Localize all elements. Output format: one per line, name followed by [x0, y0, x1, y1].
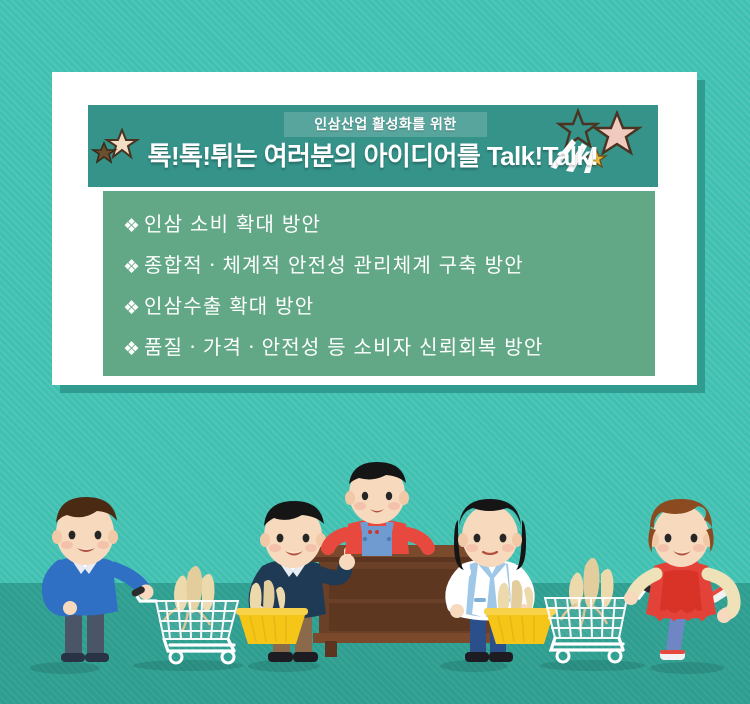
- header-banner: 인삼산업 활성화를 위한 톡!톡!튀는 여러분의 아이디어를 Talk!Talk…: [88, 105, 658, 187]
- diamond-bullet-icon: ❖: [123, 340, 140, 359]
- list-item-label: 종합적ㆍ체계적 안전성 관리체계 구축 방안: [144, 251, 524, 281]
- character-boy-vendor: [318, 462, 438, 562]
- topic-list-panel: ❖ 인삼 소비 확대 방안 ❖ 종합적ㆍ체계적 안전성 관리체계 구축 방안 ❖…: [103, 191, 655, 376]
- content-card: 인삼산업 활성화를 위한 톡!톡!튀는 여러분의 아이디어를 Talk!Talk…: [52, 72, 697, 385]
- poster-stage: 인삼산업 활성화를 위한 톡!톡!튀는 여러분의 아이디어를 Talk!Talk…: [0, 0, 750, 704]
- list-item: ❖ 품질ㆍ가격ㆍ안전성 등 소비자 신뢰회복 방안: [123, 333, 543, 363]
- banner-subtitle: 인삼산업 활성화를 위한: [284, 112, 487, 137]
- diamond-bullet-icon: ❖: [123, 258, 140, 277]
- diamond-bullet-icon: ❖: [123, 217, 140, 236]
- list-item-label: 품질ㆍ가격ㆍ안전성 등 소비자 신뢰회복 방안: [144, 333, 543, 363]
- list-item-label: 인삼수출 확대 방안: [144, 292, 314, 322]
- diamond-bullet-icon: ❖: [123, 299, 140, 318]
- list-item: ❖ 인삼수출 확대 방안: [123, 292, 314, 322]
- shopping-cart-left: [130, 555, 248, 667]
- yellow-basket-left: [236, 580, 308, 650]
- character-woman-red-apron: [620, 498, 750, 673]
- list-item: ❖ 인삼 소비 확대 방안: [123, 210, 321, 240]
- list-item-label: 인삼 소비 확대 방안: [144, 210, 321, 240]
- banner-title: 톡!톡!튀는 여러분의 아이디어를 Talk!Talk!: [88, 138, 658, 174]
- list-item: ❖ 종합적ㆍ체계적 안전성 관리체계 구축 방안: [123, 251, 524, 281]
